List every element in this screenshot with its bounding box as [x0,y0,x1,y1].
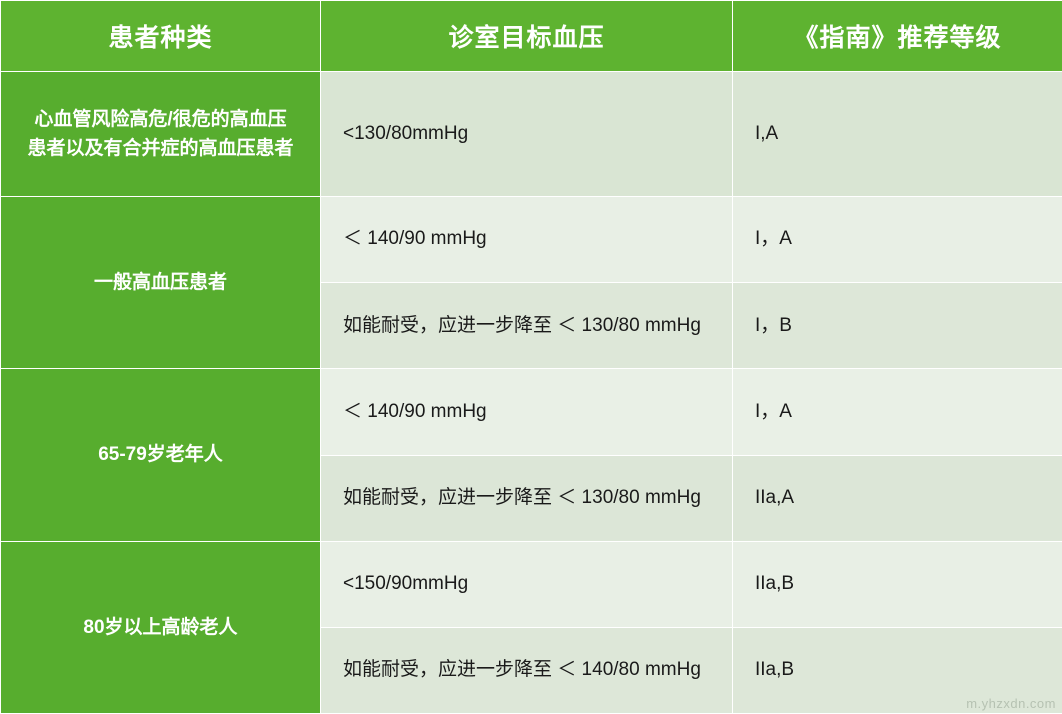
cell-category-2: 一般高血压患者 [1,197,321,369]
cell-category-1: 心血管风险高危/很危的高血压患者以及有合并症的高血压患者 [1,72,321,197]
cell-target-2-2: 如能耐受，应进一步降至 ＜ 130/80 mmHg [321,283,733,369]
cell-target-3-1: ＜ 140/90 mmHg [321,369,733,455]
cell-grade-3-2: IIa,A [733,455,1062,541]
table-row: 一般高血压患者 ＜ 140/90 mmHg I，A [1,197,1062,283]
cell-target-3-2: 如能耐受，应进一步降至 ＜ 130/80 mmHg [321,455,733,541]
cell-grade-4-1: IIa,B [733,541,1062,627]
column-header-patient-type: 患者种类 [1,1,321,72]
cell-target-4-1: <150/90mmHg [321,541,733,627]
table-body: 心血管风险高危/很危的高血压患者以及有合并症的高血压患者 <130/80mmHg… [1,72,1062,714]
table-row: 心血管风险高危/很危的高血压患者以及有合并症的高血压患者 <130/80mmHg… [1,72,1062,197]
blood-pressure-target-table: 患者种类 诊室目标血压 《指南》推荐等级 心血管风险高危/很危的高血压患者以及有… [0,0,1062,714]
cell-target-1-1: <130/80mmHg [321,72,733,197]
column-header-office-bp-target: 诊室目标血压 [321,1,733,72]
cell-grade-4-2: IIa,B [733,627,1062,713]
table-row: 65-79岁老年人 ＜ 140/90 mmHg I，A [1,369,1062,455]
table-header: 患者种类 诊室目标血压 《指南》推荐等级 [1,1,1062,72]
cell-grade-2-2: I，B [733,283,1062,369]
cell-category-4: 80岁以上高龄老人 [1,541,321,713]
cell-grade-3-1: I，A [733,369,1062,455]
column-header-guideline-grade: 《指南》推荐等级 [733,1,1062,72]
table: 患者种类 诊室目标血压 《指南》推荐等级 心血管风险高危/很危的高血压患者以及有… [0,0,1062,714]
table-row: 80岁以上高龄老人 <150/90mmHg IIa,B [1,541,1062,627]
cell-target-2-1: ＜ 140/90 mmHg [321,197,733,283]
cell-grade-2-1: I，A [733,197,1062,283]
header-row: 患者种类 诊室目标血压 《指南》推荐等级 [1,1,1062,72]
cell-grade-1-1: I,A [733,72,1062,197]
cell-category-3: 65-79岁老年人 [1,369,321,541]
cell-target-4-2: 如能耐受，应进一步降至 ＜ 140/80 mmHg [321,627,733,713]
